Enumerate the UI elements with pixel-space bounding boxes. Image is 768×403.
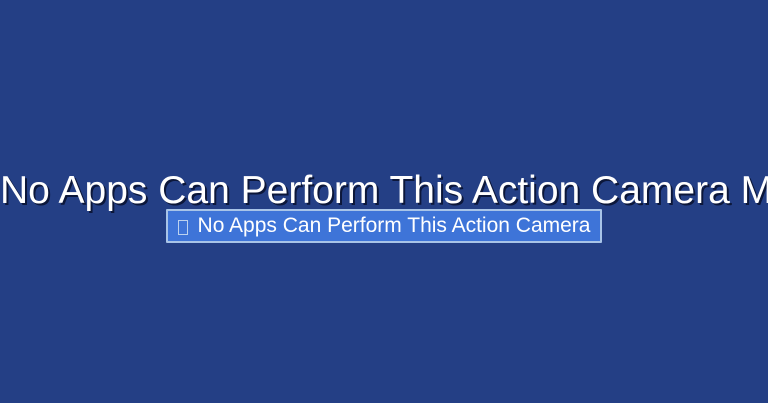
no-apps-can-perform-this-action-camera-button[interactable]: No Apps Can Perform This Action Camera bbox=[166, 209, 602, 243]
page-canvas: No Apps Can Perform This Action Camera M… bbox=[0, 0, 768, 403]
action-button-label: No Apps Can Perform This Action Camera bbox=[198, 211, 591, 241]
missing-glyph-box-icon bbox=[178, 220, 188, 235]
page-title: No Apps Can Perform This Action Camera M… bbox=[0, 167, 768, 215]
action-button-container: No Apps Can Perform This Action Camera bbox=[0, 209, 768, 243]
